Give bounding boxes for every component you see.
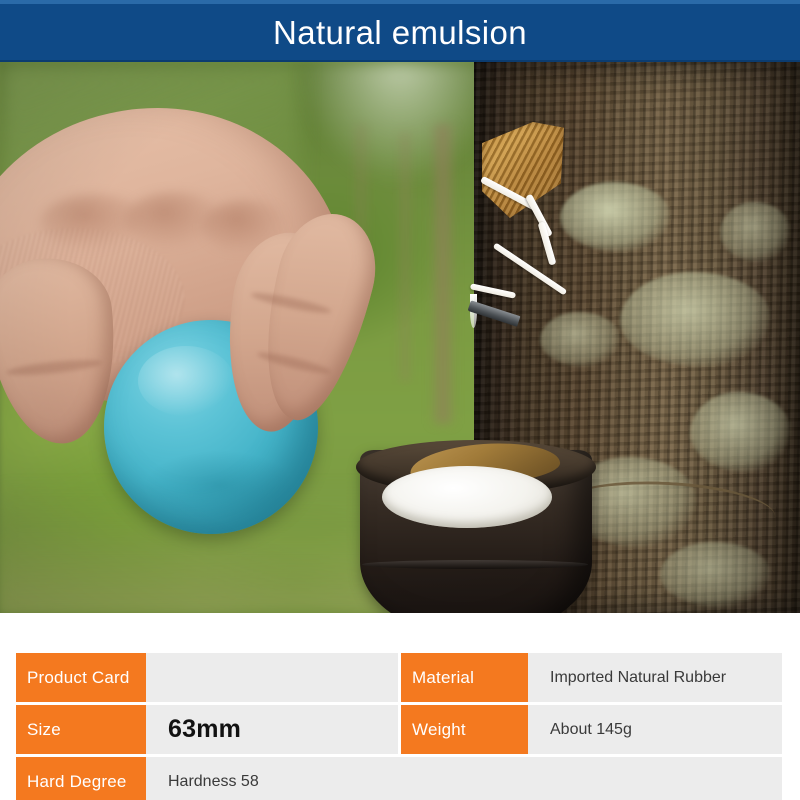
spec-label-material: Material	[401, 653, 528, 702]
ball-highlight	[138, 346, 234, 416]
product-photo	[0, 62, 800, 613]
spec-label-weight: Weight	[401, 705, 528, 754]
page-title: Natural emulsion	[273, 16, 527, 49]
spec-value-size: 63mm	[168, 715, 241, 744]
bark-lichen-patch	[540, 312, 620, 367]
background-tree-mid	[398, 132, 412, 382]
spec-value-material: Imported Natural Rubber	[528, 653, 782, 702]
spec-value-product-card	[146, 653, 398, 702]
spec-label-size: Size	[16, 705, 146, 754]
bark-lichen-patch	[660, 542, 770, 607]
spec-label-hard-degree: Hard Degree	[16, 757, 146, 800]
spec-label-product-card: Product Card	[16, 653, 146, 702]
ball-shadow	[144, 450, 294, 520]
spec-value-weight: About 145g	[528, 705, 782, 754]
cup-band	[362, 560, 588, 569]
page-banner: Natural emulsion	[0, 0, 800, 62]
bark-lichen-patch	[560, 182, 670, 252]
table-row: Product Card Material Imported Natural R…	[16, 653, 782, 702]
product-spec-table: Product Card Material Imported Natural R…	[16, 653, 782, 800]
table-row: Size 63mm Weight About 145g	[16, 705, 782, 754]
product-detail-page: Natural emulsion	[0, 0, 800, 800]
bark-lichen-patch	[720, 202, 790, 262]
spec-value-size-cell: 63mm	[146, 705, 398, 754]
liquid-latex	[382, 466, 552, 528]
bark-lichen-patch	[620, 272, 770, 367]
bark-lichen-patch	[690, 392, 790, 472]
spec-value-hard-degree: Hardness 58	[146, 757, 782, 800]
background-tree-near	[430, 124, 456, 424]
table-row: Hard Degree Hardness 58	[16, 757, 782, 800]
